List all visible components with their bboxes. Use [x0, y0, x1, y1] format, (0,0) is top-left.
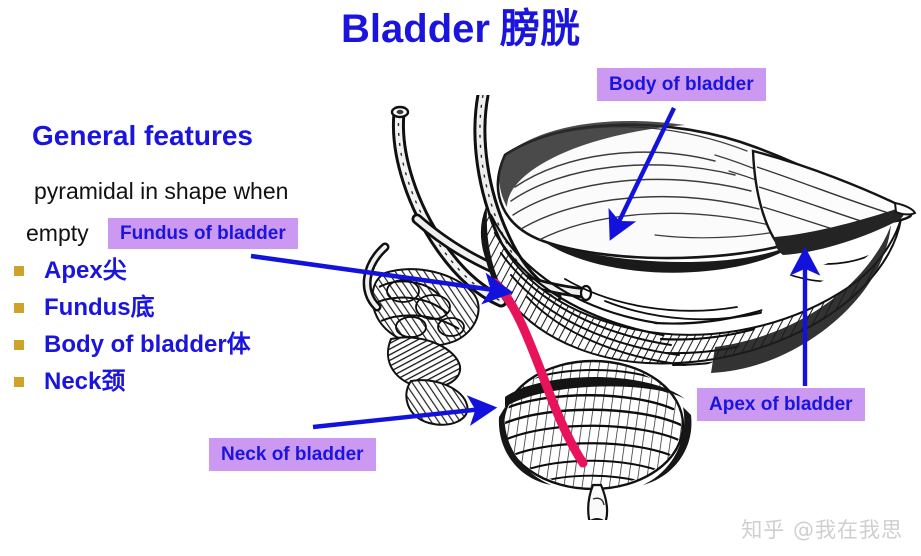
watermark: 知乎 @我在我思: [741, 514, 903, 544]
list-item: Neck颈: [8, 363, 338, 400]
list-item: Apex尖: [8, 252, 338, 289]
watermark-handle: @我在我思: [793, 518, 903, 542]
page-title-chinese: 膀胱: [500, 6, 580, 52]
list-item: Body of bladder体: [8, 326, 338, 363]
callout-neck-of-bladder: Neck of bladder: [209, 438, 376, 471]
callout-apex-of-bladder: Apex of bladder: [697, 388, 865, 421]
feature-bullet-list: Apex尖 Fundus底 Body of bladder体 Neck颈: [8, 252, 338, 400]
seminal-vesicle-group: [372, 269, 478, 425]
bladder-apex-group: [753, 151, 915, 255]
watermark-site: 知乎: [741, 518, 785, 542]
bullet-label-cn: 底: [131, 293, 155, 321]
bullet-label-en: Fundus: [44, 294, 131, 321]
bullet-label-cn: 尖: [103, 256, 127, 284]
callout-body-of-bladder: Body of bladder: [597, 68, 766, 101]
slide-canvas: Bladder膀胱 General features pyramidal in …: [0, 0, 921, 556]
bullet-label-en: Apex: [44, 257, 103, 284]
lead-text-line-1: pyramidal in shape when: [34, 178, 288, 205]
section-heading-general-features: General features: [32, 120, 253, 152]
bullet-square-icon: [14, 266, 24, 276]
callout-label: Fundus of bladder: [120, 223, 286, 245]
list-item: Fundus底: [8, 289, 338, 326]
callout-label: Neck of bladder: [221, 444, 364, 466]
bullet-label-cn: 颈: [101, 367, 125, 395]
bladder-anatomy-illustration: [355, 95, 921, 520]
prostate-neck-group: [499, 361, 692, 520]
page-title-english: Bladder: [341, 7, 490, 51]
bullet-label-en: Body of bladder: [44, 331, 227, 358]
page-title: Bladder膀胱: [0, 6, 921, 52]
bullet-square-icon: [14, 377, 24, 387]
callout-label: Body of bladder: [609, 74, 754, 96]
callout-fundus-of-bladder: Fundus of bladder: [108, 218, 298, 249]
bullet-square-icon: [14, 340, 24, 350]
callout-label: Apex of bladder: [709, 394, 853, 416]
lead-text-line-2: empty: [26, 220, 89, 247]
bullet-square-icon: [14, 303, 24, 313]
bullet-label-en: Neck: [44, 368, 101, 395]
bullet-label-cn: 体: [227, 330, 251, 358]
